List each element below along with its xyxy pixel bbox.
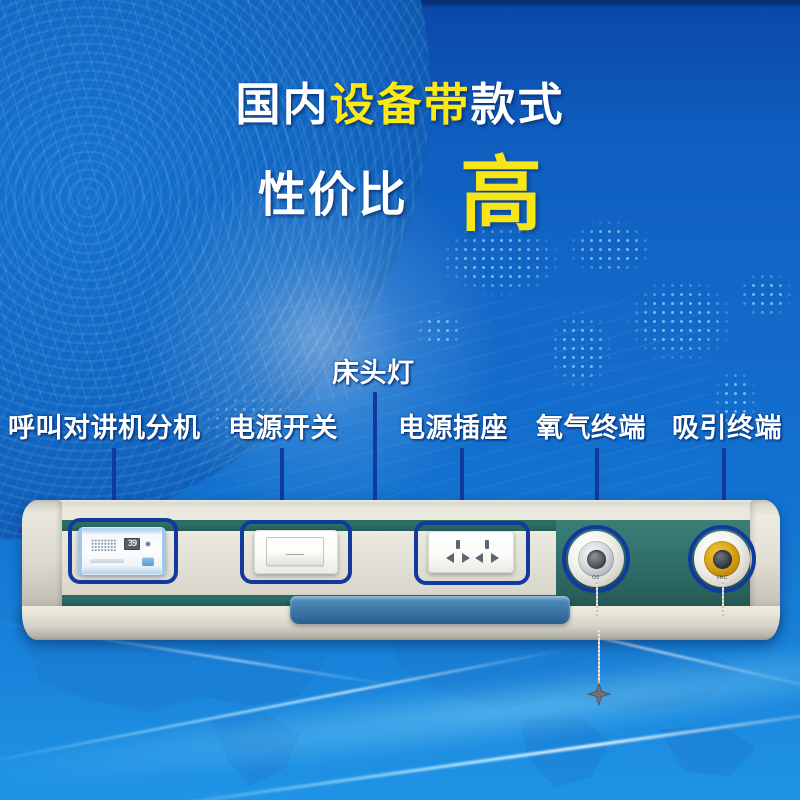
highlight-box-power-switch [240,520,352,584]
pull-cord-suction [722,580,724,616]
callout-label-nurse-call-intercom: 呼叫对讲机分机 [8,415,201,442]
callout-label-oxygen-terminal: 氧气终端 [536,415,646,442]
highlight-box-nurse-call-intercom [68,518,178,584]
pull-cord-toggle[interactable] [587,682,611,706]
highlight-box-power-socket [414,521,530,585]
callout-label-suction-terminal: 吸引终端 [672,415,782,442]
callout-label-bed-lamp: 床头灯 [332,360,415,387]
pull-cord-oxygen [596,580,598,616]
callout-label-power-switch: 电源开关 [228,415,338,442]
callout-label-power-socket: 电源插座 [398,415,508,442]
bed-lamp-light-strip[interactable] [290,596,570,624]
pull-cord-main[interactable] [598,630,600,686]
promo-image-root: 国内设备带款式 性价比 高 呼叫对讲机分机 电源开关 床头灯 电源插座 氧气终端… [0,0,800,800]
